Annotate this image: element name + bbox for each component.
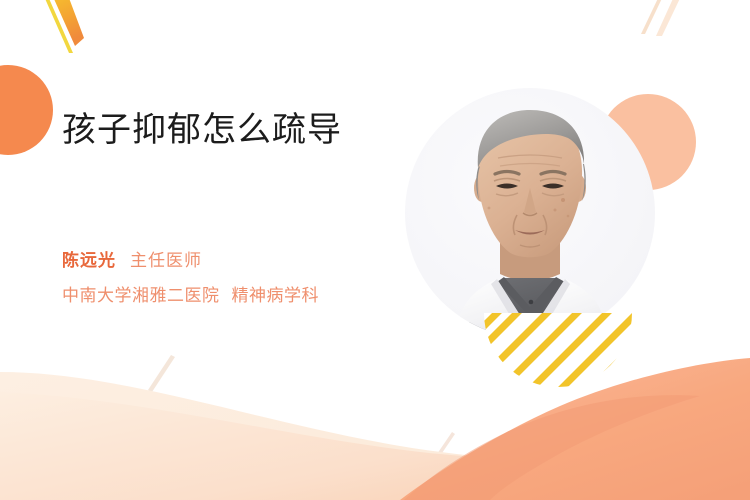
doctor-hospital: 中南大学湘雅二医院 [62, 286, 220, 305]
doctor-title: 主任医师 [130, 251, 202, 270]
doctor-name-row: 陈远光主任医师 [62, 248, 462, 274]
diagonal-stripe-pale-lower [148, 355, 175, 392]
page-title: 孩子抑郁怎么疏导 [62, 108, 462, 152]
text-block: 孩子抑郁怎么疏导 陈远光主任医师 中南大学湘雅二医院精神病学科 [62, 108, 462, 309]
doctor-affiliation-row: 中南大学湘雅二医院精神病学科 [62, 283, 462, 309]
doctor-department: 精神病学科 [232, 286, 320, 305]
promo-card: 孩子抑郁怎么疏导 陈远光主任医师 中南大学湘雅二医院精神病学科 [0, 0, 750, 500]
doctor-name: 陈远光 [62, 251, 116, 270]
